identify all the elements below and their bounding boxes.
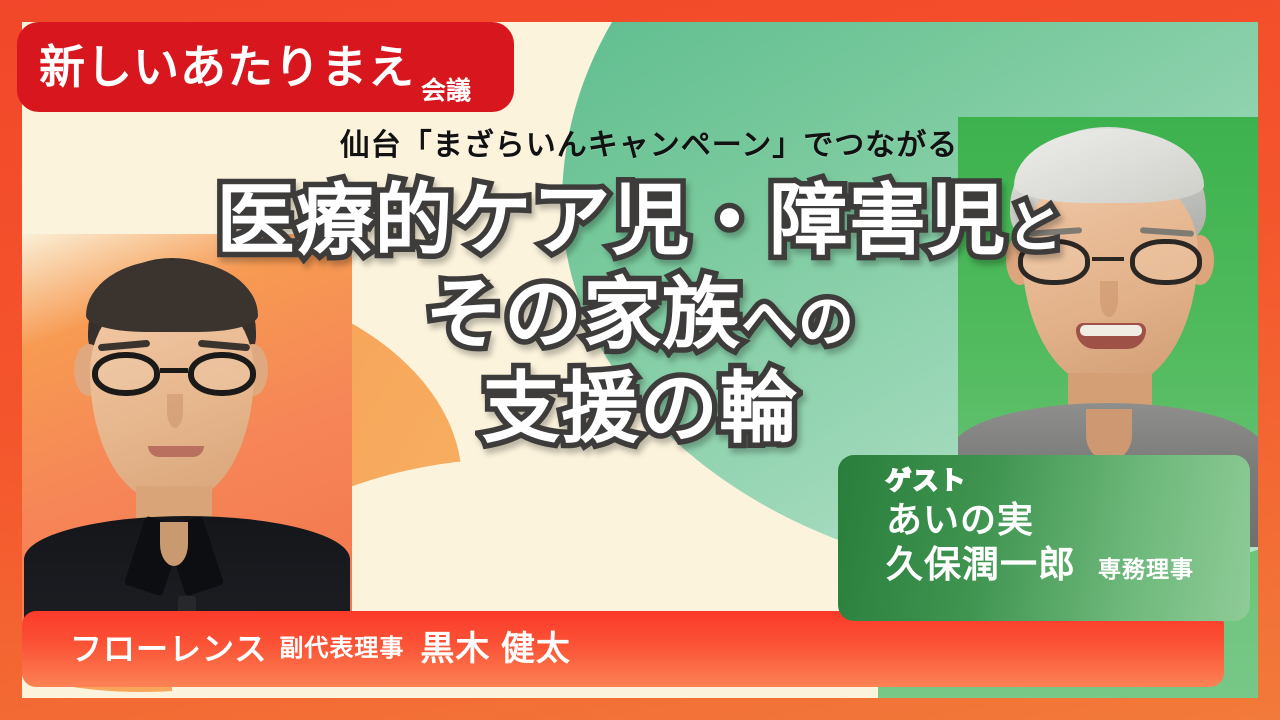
thumbnail-stage: 新しいあたりまえ 会議 仙台「まざらいんキャンペーン」でつながる 医療的ケア児・… [0, 0, 1280, 720]
host-organization: フローレンス [70, 633, 267, 665]
host-name-bar: フローレンス 副代表理事 黒木 健太 [22, 611, 1224, 687]
badge-sub-text: 会議 [421, 79, 471, 104]
headline-title-line-1: 医療的ケア児・障害児と [0, 178, 1280, 262]
headline-subtitle: 仙台「まざらいんキャンペーン」でつながる [0, 128, 1280, 164]
guest-info-card: ゲスト あいの実 久保潤一郎 専務理事 [838, 455, 1250, 621]
badge-main-text: 新しいあたりまえ [39, 44, 415, 90]
title-line-2-main: その家族 [425, 270, 741, 358]
guest-organization: あいの実 [886, 497, 1250, 542]
title-line-2-tail: への [741, 290, 855, 353]
guest-label: ゲスト [886, 468, 1250, 494]
headline-block: 仙台「まざらいんキャンペーン」でつながる 医療的ケア児・障害児と その家族への … [0, 128, 1280, 451]
guest-role: 専務理事 [1098, 558, 1194, 581]
title-line-1-tail: と [1007, 196, 1064, 259]
host-role: 副代表理事 [279, 637, 404, 661]
headline-title-line-2: その家族への [0, 272, 1280, 356]
host-name: 黒木 健太 [420, 632, 570, 666]
guest-name: 久保潤一郎 [886, 544, 1076, 587]
program-logo-badge: 新しいあたりまえ 会議 [17, 22, 514, 112]
guest-name-row: 久保潤一郎 専務理事 [886, 544, 1250, 587]
host-neckline [160, 522, 188, 566]
headline-title-line-3: 支援の輪 [0, 366, 1280, 450]
title-line-1-main: 医療的ケア児・障害児 [216, 176, 1006, 264]
